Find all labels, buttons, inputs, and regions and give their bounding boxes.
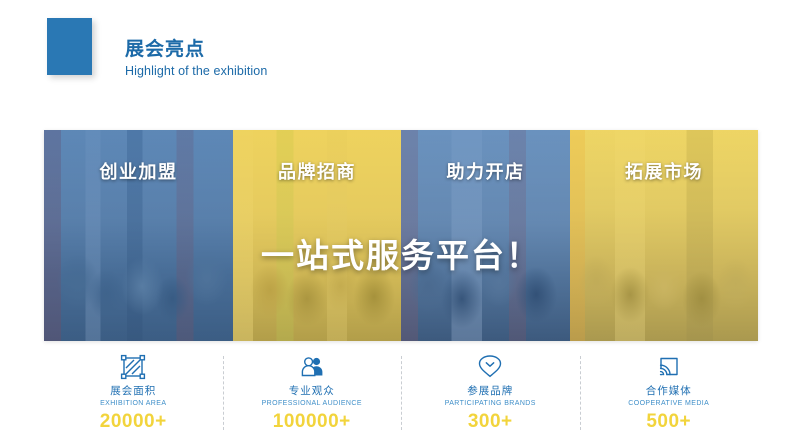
stat-professional-audience: 专业观众 PROFESSIONAL AUDIENCE 100000+ [223,352,402,440]
page-header: 展会亮点 Highlight of the exhibition [0,0,800,110]
strip-headline: 一站式服务平台！ [44,229,758,277]
professional-audience-icon [223,352,402,382]
stat-cooperative-media: 合作媒体 COOPERATIVE MEDIA 500+ [580,352,759,440]
stat-label-en: PARTICIPATING BRANDS [401,398,580,409]
stat-value: 100000+ [223,411,402,433]
stat-label-en: PROFESSIONAL AUDIENCE [223,398,402,409]
stat-label-cn: 合作媒体 [580,385,759,398]
exhibition-area-icon [44,352,223,382]
stat-value: 500+ [580,411,759,433]
participating-brands-icon [401,352,580,382]
stat-label-cn: 参展品牌 [401,385,580,398]
stat-participating-brands: 参展品牌 PARTICIPATING BRANDS 300+ [401,352,580,440]
panel-label-1: 创业加盟 [44,158,233,184]
statistics-row: 展会面积 EXHIBITION AREA 20000+ 专业观众 PROFESS… [44,352,758,440]
highlight-image-strip: 创业加盟 品牌招商 助力开店 拓展市场 一站式服务平台！ [44,130,758,341]
stat-value: 20000+ [44,411,223,433]
stat-label-en: COOPERATIVE MEDIA [580,398,759,409]
cooperative-media-icon [580,352,759,382]
panel-label-4: 拓展市场 [570,158,758,184]
stat-label-cn: 展会面积 [44,385,223,398]
stat-value: 300+ [401,411,580,433]
panel-label-3: 助力开店 [401,158,570,184]
blue-bar-decoration-icon [47,18,92,75]
page-subtitle: Highlight of the exhibition [125,64,267,78]
stat-label-cn: 专业观众 [223,385,402,398]
panel-label-2: 品牌招商 [233,158,401,184]
stat-exhibition-area: 展会面积 EXHIBITION AREA 20000+ [44,352,223,440]
page-title: 展会亮点 [125,34,205,61]
stat-label-en: EXHIBITION AREA [44,398,223,409]
